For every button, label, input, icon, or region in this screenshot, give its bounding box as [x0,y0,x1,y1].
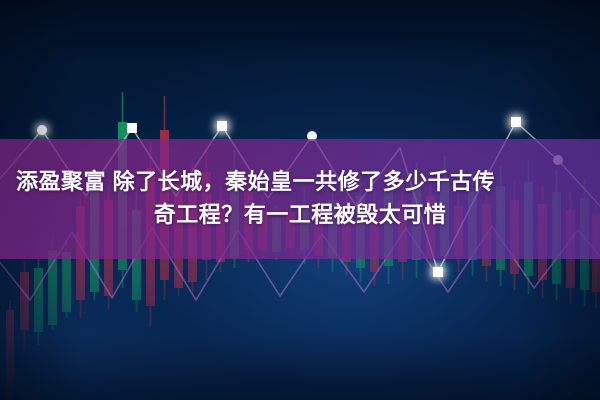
candle-body [48,250,57,325]
zigzag-node-square [433,267,443,277]
candle-body [6,310,14,400]
zigzag-node-square [127,123,137,133]
headline-block: 添盈聚富 除了长城，秦始皇一共修了多少千古传 奇工程？有一工程被毁太可惜 [0,139,600,259]
candle-body [62,252,71,312]
zigzag-node-square [217,121,227,131]
headline-line-1: 添盈聚富 除了长城，秦始皇一共修了多少千古传 [16,170,495,195]
candle-body [34,268,43,332]
stock-banner-image: 添盈聚富 除了长城，秦始皇一共修了多少千古传 奇工程？有一工程被毁太可惜 [0,0,600,400]
headline-line-2: 奇工程？有一工程被毁太可惜 [154,203,447,228]
zigzag-node-square [511,117,521,127]
zigzag-node-circle [37,125,47,135]
candle-body [20,272,29,330]
